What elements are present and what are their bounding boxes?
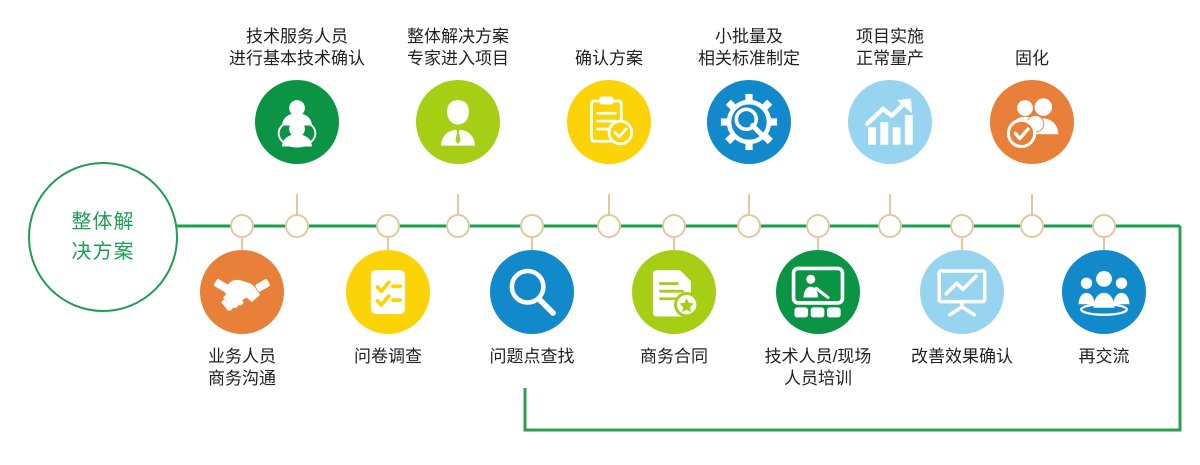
stage-icon-disc[interactable] xyxy=(990,80,1074,164)
timeline-node-marker[interactable] xyxy=(1093,215,1115,237)
stage-icon-disc[interactable] xyxy=(490,250,574,334)
stage-icon-disc[interactable] xyxy=(200,250,284,334)
handshake-icon xyxy=(213,263,271,321)
stage-label: 整体解决方案 专家进入项目 xyxy=(373,24,543,70)
stage-node[interactable]: 固化 xyxy=(947,24,1117,164)
timeline-node-marker[interactable] xyxy=(951,215,973,237)
team-group-icon xyxy=(1076,264,1132,320)
timeline-node-marker[interactable] xyxy=(879,215,901,237)
infographic-root: 整体解 决方案 技术服务人员 进行基本技术确认 整体解决方案 专家进入项目 确认… xyxy=(0,0,1200,465)
clipboard-check-icon xyxy=(581,94,637,150)
stage-icon-disc[interactable] xyxy=(848,80,932,164)
stage-icon-disc[interactable] xyxy=(776,250,860,334)
stage-label: 技术服务人员 进行基本技术确认 xyxy=(212,24,382,70)
training-board-icon xyxy=(789,263,847,321)
timeline-node-marker[interactable] xyxy=(598,215,620,237)
timeline-node-marker[interactable] xyxy=(231,215,253,237)
stage-label: 业务人员 商务沟通 xyxy=(157,346,327,390)
timeline-node-marker[interactable] xyxy=(1021,215,1043,237)
stage-node[interactable]: 业务人员 商务沟通 xyxy=(157,250,327,390)
checklist-icon xyxy=(362,266,414,318)
gear-magnifier-icon xyxy=(720,93,778,151)
timeline-node-marker[interactable] xyxy=(521,215,543,237)
presentation-chart-icon xyxy=(934,264,990,320)
stage-icon-disc[interactable] xyxy=(346,250,430,334)
stage-node[interactable]: 再交流 xyxy=(1019,250,1189,368)
stage-icon-disc[interactable] xyxy=(707,80,791,164)
stage-node[interactable]: 整体解决方案 专家进入项目 xyxy=(373,24,543,164)
people-check-icon xyxy=(1004,94,1060,150)
timeline-node-marker[interactable] xyxy=(377,215,399,237)
timeline-node-marker[interactable] xyxy=(286,215,308,237)
hub-label: 整体解 决方案 xyxy=(72,207,135,267)
stage-icon-disc[interactable] xyxy=(416,80,500,164)
stage-label: 再交流 xyxy=(1019,346,1189,368)
stage-icon-disc[interactable] xyxy=(920,250,1004,334)
timeline-node-marker[interactable] xyxy=(663,215,685,237)
stage-node[interactable]: 技术服务人员 进行基本技术确认 xyxy=(212,24,382,164)
person-with-tie-icon xyxy=(431,95,485,149)
two-persons-icon xyxy=(269,94,325,150)
stage-label: 固化 xyxy=(947,24,1117,70)
magnifier-icon xyxy=(504,264,560,320)
timeline-node-marker[interactable] xyxy=(447,215,469,237)
document-star-icon xyxy=(647,265,701,319)
stage-icon-disc[interactable] xyxy=(632,250,716,334)
overall-solution-hub[interactable]: 整体解 决方案 xyxy=(28,162,178,312)
timeline-node-marker[interactable] xyxy=(807,215,829,237)
stage-icon-disc[interactable] xyxy=(255,80,339,164)
stage-icon-disc[interactable] xyxy=(1062,250,1146,334)
stage-icon-disc[interactable] xyxy=(567,80,651,164)
bar-chart-arrow-icon xyxy=(862,94,918,150)
timeline-node-marker[interactable] xyxy=(738,215,760,237)
